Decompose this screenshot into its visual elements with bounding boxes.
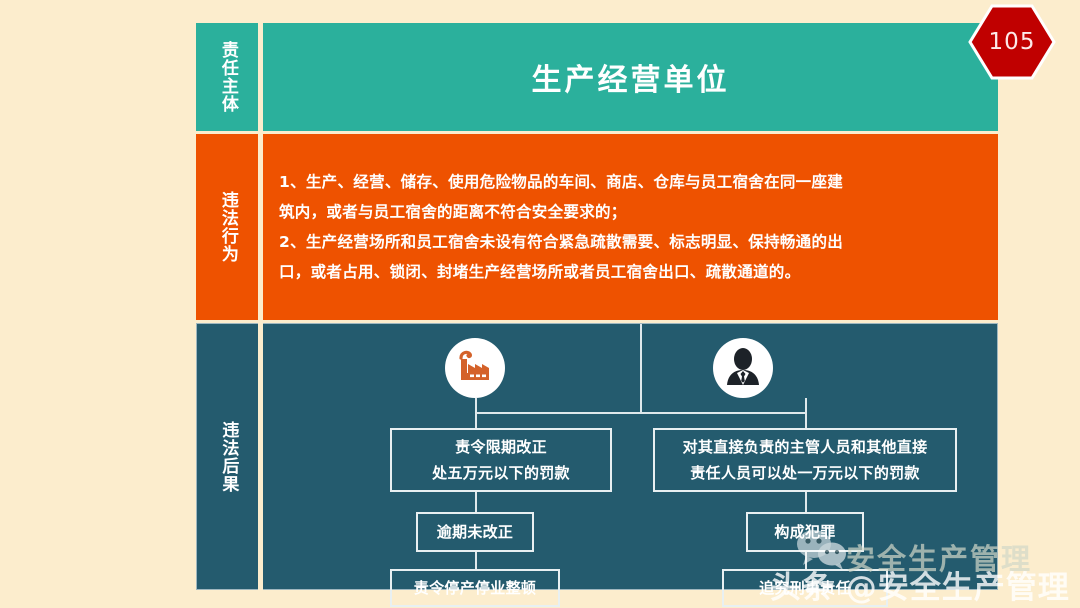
connector-right-drop: [805, 412, 807, 428]
row-body-consequence: 责令限期改正 处五万元以下的罚款 逾期未改正 责令停产停业整顿 对其直接负责的主…: [263, 323, 998, 590]
flow-box-right-1: 对其直接负责的主管人员和其他直接 责任人员可以处一万元以下的罚款: [653, 428, 957, 492]
flow-box-right-3-line-1: 追究刑事责任: [759, 575, 851, 601]
factory-icon: [455, 348, 495, 388]
person-icon: [723, 347, 763, 389]
flow-box-right-1-line-2: 责任人员可以处一万元以下的罚款: [690, 460, 920, 486]
table-row-violation: 违法行为 1、生产、经营、储存、使用危险物品的车间、商店、仓库与员工宿舍在同一座…: [196, 134, 998, 320]
flow-box-left-3: 责令停产停业整顿: [390, 569, 560, 607]
flow-box-left-1-line-1: 责令限期改正: [455, 434, 547, 460]
flow-box-left-2: 逾期未改正: [416, 512, 534, 552]
flow-box-left-1-line-2: 处五万元以下的罚款: [432, 460, 570, 486]
row-body-subject: 生产经营单位: [263, 23, 998, 131]
violation-line-1: 1、生产、经营、储存、使用危险物品的车间、商店、仓库与员工宿舍在同一座建: [279, 167, 984, 197]
row-label-violation: 违法行为: [196, 134, 258, 320]
page-title: 生产经营单位: [532, 55, 730, 99]
flow-box-right-1-line-1: 对其直接负责的主管人员和其他直接: [683, 434, 928, 460]
slide-canvas: 责任主体 生产经营单位 违法行为 1、生产、经营、储存、使用危险物品的车间、商店…: [0, 0, 1080, 608]
row-label-subject: 责任主体: [196, 23, 258, 131]
flow-box-right-3: 追究刑事责任: [722, 569, 888, 607]
consequence-flowchart: 责令限期改正 处五万元以下的罚款 逾期未改正 责令停产停业整顿 对其直接负责的主…: [263, 324, 997, 589]
table-row-subject: 责任主体 生产经营单位: [196, 23, 998, 131]
connector-horizontal: [475, 412, 806, 414]
connector-left-drop: [475, 412, 477, 428]
legal-table: 责任主体 生产经营单位 违法行为 1、生产、经营、储存、使用危险物品的车间、商店…: [196, 23, 998, 590]
violation-line-3: 2、生产经营场所和员工宿舍未设有符合紧急疏散需要、标志明显、保持畅通的出: [279, 227, 984, 257]
flow-box-left-3-line-1: 责令停产停业整顿: [414, 575, 536, 601]
flow-box-left-1: 责令限期改正 处五万元以下的罚款: [390, 428, 612, 492]
row-label-consequence: 违法后果: [196, 323, 258, 590]
connector-right-mid: [805, 491, 807, 513]
wechat-icon: [794, 528, 850, 574]
connector-root-vertical: [640, 324, 642, 412]
violation-line-4: 口，或者占用、锁闭、封堵生产经营场所或者员工宿舍出口、疏散通道的。: [279, 257, 984, 287]
factory-icon-circle: [445, 338, 505, 398]
violation-line-2: 筑内，或者与员工宿舍的距离不符合安全要求的；: [279, 197, 984, 227]
table-row-consequence: 违法后果: [196, 323, 998, 590]
person-icon-circle: [713, 338, 773, 398]
connector-left-lower: [475, 552, 477, 570]
page-number-badge: 105: [967, 3, 1057, 81]
page-number-text: 105: [967, 3, 1057, 81]
row-body-violation: 1、生产、经营、储存、使用危险物品的车间、商店、仓库与员工宿舍在同一座建 筑内，…: [263, 134, 998, 320]
connector-left-mid: [475, 491, 477, 513]
flow-box-left-2-line-1: 逾期未改正: [437, 519, 514, 545]
